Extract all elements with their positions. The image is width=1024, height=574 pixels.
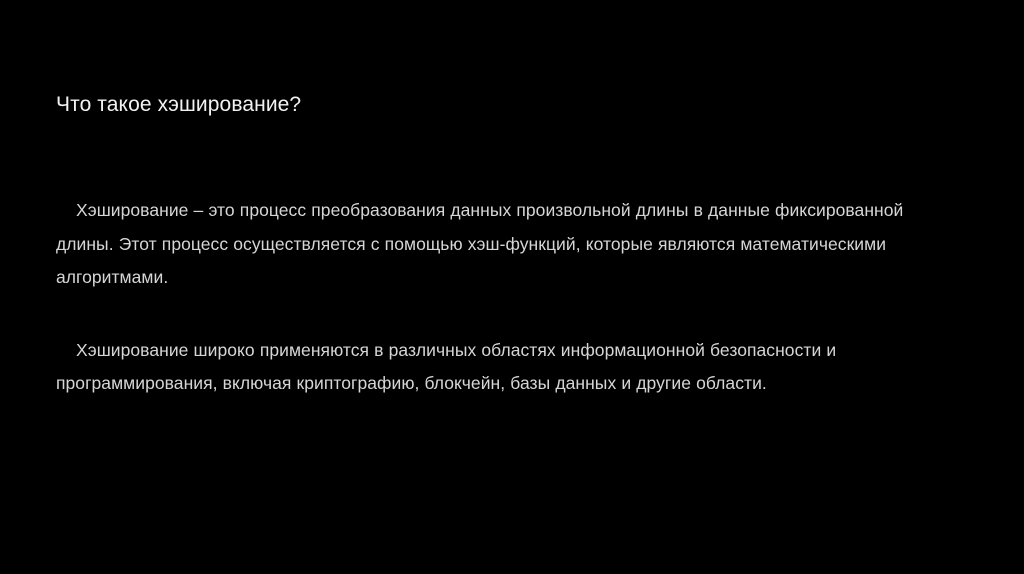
slide-canvas: Что такое хэширование? Хэширование – это… xyxy=(0,0,1024,574)
slide-body: Хэширование – это процесс преобразования… xyxy=(56,194,928,401)
page-title: Что такое хэширование? xyxy=(56,92,956,118)
body-paragraph-2: Хэширование широко применяются в различн… xyxy=(56,334,928,401)
body-paragraph-1: Хэширование – это процесс преобразования… xyxy=(56,194,928,295)
